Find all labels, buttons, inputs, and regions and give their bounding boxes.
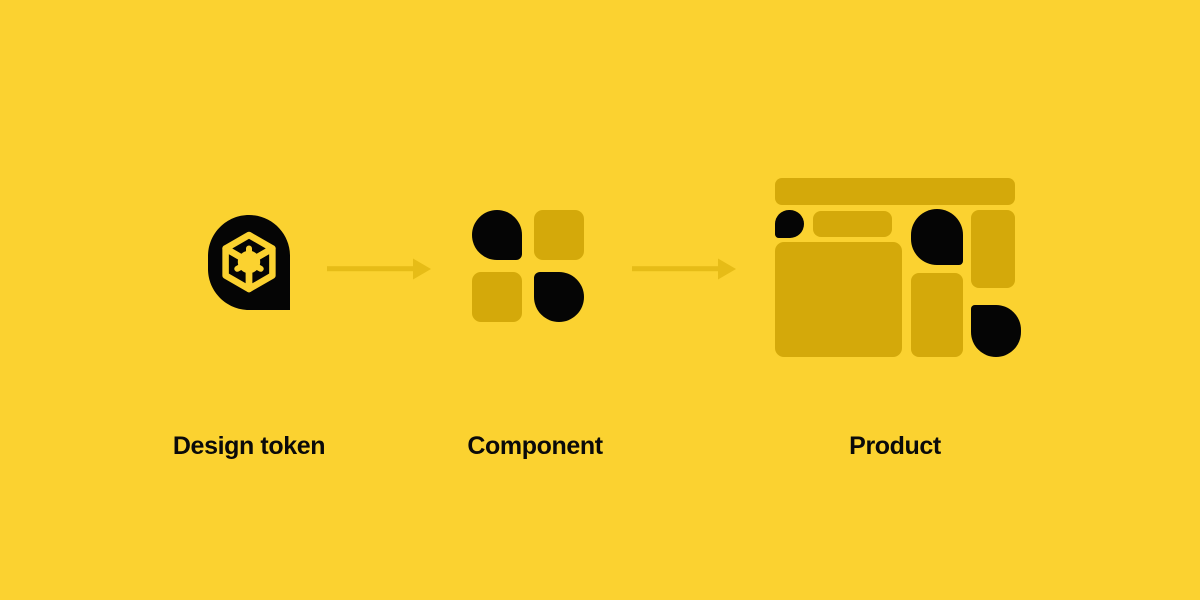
component-cell-bottom-left [472,272,522,322]
product-block-hero-blob [911,209,963,265]
diagram-canvas: Design token Component [0,0,1200,600]
design-token-cube-pin-icon [208,215,290,310]
step-label-product: Product [735,434,1055,459]
step-component: Component [430,0,640,600]
step-label-design-token: Design token [144,434,354,459]
step-label-component: Component [430,434,640,459]
component-four-squares-icon [472,210,584,322]
arrow-right-icon [327,258,431,280]
component-cell-top-right [534,210,584,260]
component-cell-bottom-right [534,272,584,322]
product-block-main-canvas [775,242,902,357]
product-block-mid-column [911,273,963,357]
product-layout-wireframe-icon [775,178,1015,360]
step-design-token: Design token [144,0,354,600]
product-block-avatar-dot [775,210,804,238]
product-block-top-bar [775,178,1015,205]
product-block-search-field [813,211,892,237]
arrow-right-icon [632,258,736,280]
component-cell-top-left [472,210,522,260]
product-block-side-panel [971,210,1015,288]
step-product: Product [735,0,1055,600]
product-block-corner-blob [971,305,1021,357]
